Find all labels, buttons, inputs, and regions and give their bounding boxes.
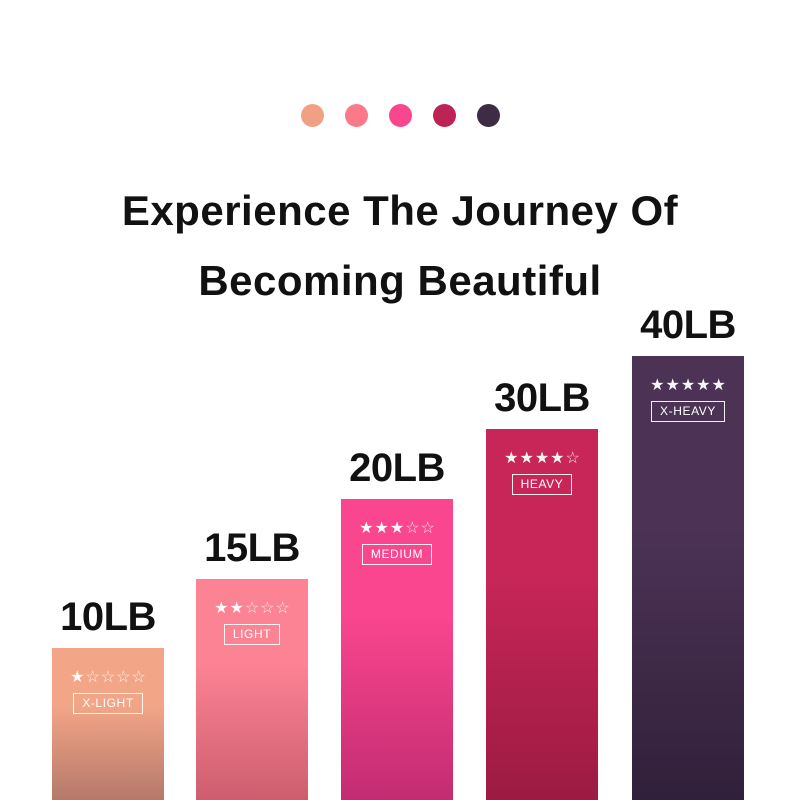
bar-20lb-star-rating: ★★★☆☆ xyxy=(359,521,435,537)
star-filled-icon: ★ xyxy=(359,521,373,537)
star-filled-icon: ★ xyxy=(229,601,243,617)
star-empty-icon: ☆ xyxy=(260,601,274,617)
bar-30lb-star-rating: ★★★★☆ xyxy=(504,451,580,467)
star-filled-icon: ★ xyxy=(550,451,564,467)
bar-30lb-level-tag: HEAVY xyxy=(512,474,573,495)
star-empty-icon: ☆ xyxy=(276,601,290,617)
bar-15lb-column: ★★☆☆☆LIGHT xyxy=(196,579,308,800)
bar-15lb-level-tag: LIGHT xyxy=(224,624,280,645)
bar-10lb-star-rating: ★☆☆☆☆ xyxy=(70,670,146,686)
bar-30lb-value-label: 30LB xyxy=(494,376,590,421)
star-filled-icon: ★ xyxy=(665,378,679,394)
bar-10lb-column: ★☆☆☆☆X-LIGHT xyxy=(52,648,164,800)
star-filled-icon: ★ xyxy=(681,378,695,394)
bar-20lb-value-label: 20LB xyxy=(349,446,445,491)
bar-40lb-column: ★★★★★X-HEAVY xyxy=(632,356,744,800)
bar-30lb[interactable]: 30LB★★★★☆HEAVY xyxy=(486,429,598,800)
bar-20lb-column: ★★★☆☆MEDIUM xyxy=(341,499,453,800)
star-empty-icon: ☆ xyxy=(566,451,580,467)
star-filled-icon: ★ xyxy=(712,378,726,394)
star-empty-icon: ☆ xyxy=(116,670,130,686)
star-filled-icon: ★ xyxy=(374,521,388,537)
star-empty-icon: ☆ xyxy=(101,670,115,686)
bar-15lb[interactable]: 15LB★★☆☆☆LIGHT xyxy=(196,579,308,800)
bar-40lb[interactable]: 40LB★★★★★X-HEAVY xyxy=(632,356,744,800)
star-empty-icon: ☆ xyxy=(405,521,419,537)
star-empty-icon: ☆ xyxy=(132,670,146,686)
star-filled-icon: ★ xyxy=(390,521,404,537)
star-empty-icon: ☆ xyxy=(421,521,435,537)
star-filled-icon: ★ xyxy=(696,378,710,394)
bar-10lb-level-tag: X-LIGHT xyxy=(73,693,143,714)
bar-15lb-value-label: 15LB xyxy=(204,526,300,571)
bar-10lb-value-label: 10LB xyxy=(60,595,156,640)
bar-30lb-column: ★★★★☆HEAVY xyxy=(486,429,598,800)
bar-15lb-content: ★★☆☆☆LIGHT xyxy=(196,601,308,645)
bar-40lb-content: ★★★★★X-HEAVY xyxy=(632,378,744,422)
star-empty-icon: ☆ xyxy=(245,601,259,617)
star-filled-icon: ★ xyxy=(519,451,533,467)
star-filled-icon: ★ xyxy=(214,601,228,617)
bar-15lb-star-rating: ★★☆☆☆ xyxy=(214,601,290,617)
bar-30lb-content: ★★★★☆HEAVY xyxy=(486,451,598,495)
star-filled-icon: ★ xyxy=(535,451,549,467)
bar-20lb-level-tag: MEDIUM xyxy=(362,544,432,565)
star-filled-icon: ★ xyxy=(70,670,84,686)
star-filled-icon: ★ xyxy=(650,378,664,394)
star-filled-icon: ★ xyxy=(504,451,518,467)
resistance-band-bar-chart: 10LB★☆☆☆☆X-LIGHT15LB★★☆☆☆LIGHT20LB★★★☆☆M… xyxy=(0,0,800,800)
bar-40lb-fill xyxy=(632,356,744,800)
bar-20lb[interactable]: 20LB★★★☆☆MEDIUM xyxy=(341,499,453,800)
bar-40lb-value-label: 40LB xyxy=(640,303,736,348)
bar-40lb-star-rating: ★★★★★ xyxy=(650,378,726,394)
bar-10lb[interactable]: 10LB★☆☆☆☆X-LIGHT xyxy=(52,648,164,800)
bar-10lb-content: ★☆☆☆☆X-LIGHT xyxy=(52,670,164,714)
bar-20lb-content: ★★★☆☆MEDIUM xyxy=(341,521,453,565)
star-empty-icon: ☆ xyxy=(85,670,99,686)
bar-40lb-level-tag: X-HEAVY xyxy=(651,401,725,422)
